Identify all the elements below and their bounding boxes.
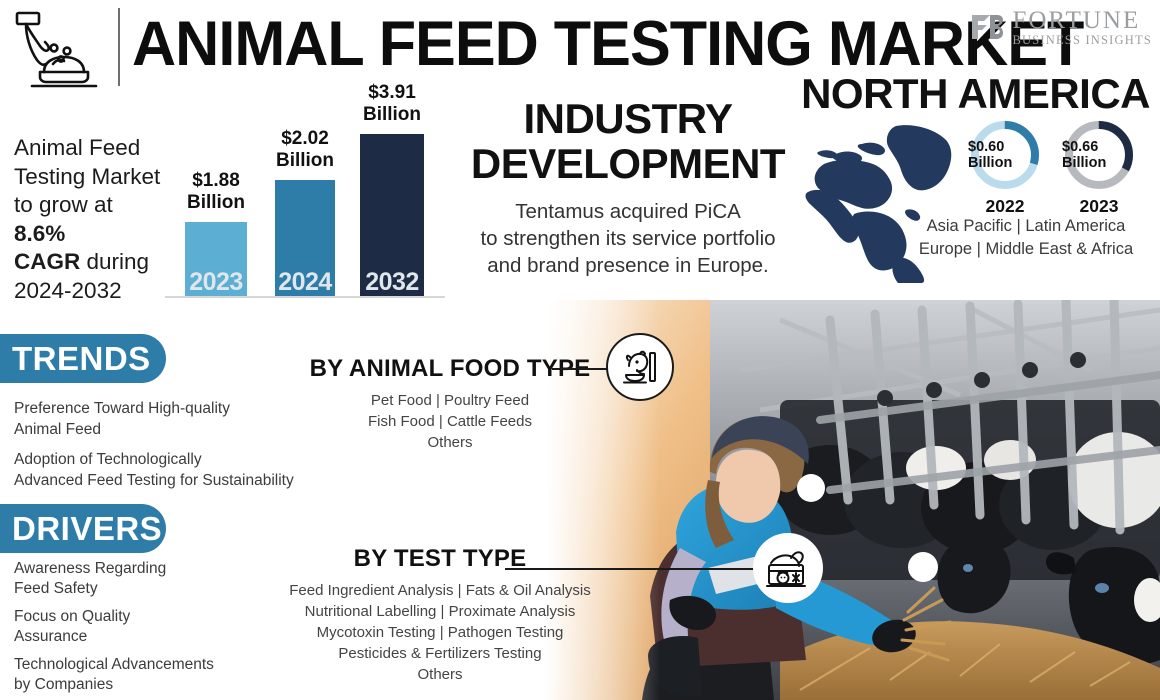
cow-eating-bowl-icon (606, 333, 674, 401)
trends-label: TRENDS (12, 340, 151, 378)
infographic-page: ANIMAL FEED TESTING MARKET FORTUNE BUSIN… (0, 0, 1160, 700)
trend-item-2: Adoption of Technologically Advanced Fee… (14, 449, 314, 491)
bar-year-2023: 2023 (185, 268, 247, 297)
trends-list: Preference Toward High-quality Animal Fe… (14, 398, 314, 500)
connector-line-test-type (505, 568, 765, 570)
segment-items-test-type: Feed Ingredient Analysis | Fats & Oil An… (240, 580, 640, 685)
fortune-business-insights-logo: FORTUNE BUSINESS INSIGHTS (970, 8, 1152, 47)
trends-badge: TRENDS (0, 334, 166, 383)
bar-value-2023: $1.88 Billion (169, 170, 263, 213)
during-text: during (80, 249, 149, 274)
bar-2024: $2.02 Billion 2024 (275, 180, 335, 296)
drivers-badge: DRIVERS (0, 504, 166, 553)
regions-list: Asia Pacific | Latin America Europe | Mi… (900, 215, 1152, 261)
cagr-label: CAGR (14, 249, 80, 274)
donut-2023: $0.66 Billion (1062, 118, 1136, 192)
bar-2023: $1.88 Billion 2023 (185, 222, 247, 296)
donut-2023-value: $0.66 Billion (1062, 118, 1136, 192)
drivers-label: DRIVERS (12, 510, 162, 548)
bar-value-2024: $2.02 Billion (259, 128, 351, 171)
photo-accent-dot-2 (908, 552, 938, 582)
industry-development-block: INDUSTRY DEVELOPMENT Tentamus acquired P… (452, 96, 804, 279)
market-growth-statement: Animal Feed Testing Market to grow at 8.… (14, 134, 169, 305)
header-divider (118, 8, 120, 86)
north-america-title: NORTH AMERICA (801, 70, 1150, 118)
segment-items-animal-food-type: Pet Food | Poultry Feed Fish Food | Catt… (300, 390, 600, 453)
bar-value-2032: $3.91 Billion (344, 82, 440, 125)
bar-year-2024: 2024 (275, 268, 335, 297)
bar-2032: $3.91 Billion 2032 (360, 134, 424, 296)
segment-by-test-type: BY TEST TYPE Feed Ingredient Analysis | … (240, 545, 640, 685)
donut-2022-value: $0.60 Billion (968, 118, 1042, 192)
market-size-bar-chart: $1.88 Billion 2023 $2.02 Billion 2024 $3… (160, 108, 450, 304)
connector-line-animal-food-type (552, 368, 610, 370)
hand-feeding-bowl-icon (12, 6, 108, 94)
industry-development-body: Tentamus acquired PiCA to strengthen its… (452, 198, 804, 279)
feed-sack-scoop-icon (753, 533, 823, 603)
donut-2022-year: 2022 (968, 196, 1042, 217)
donut-2023-year: 2023 (1062, 196, 1136, 217)
brand-name: FORTUNE (1012, 8, 1152, 33)
donut-2022: $0.60 Billion (968, 118, 1042, 192)
fb-monogram-icon (970, 12, 1004, 42)
brand-subtitle: BUSINESS INSIGHTS (1012, 34, 1152, 47)
forecast-period: 2024-2032 (14, 278, 122, 303)
bar-year-2032: 2032 (360, 268, 424, 297)
cagr-value: 8.6% (14, 221, 65, 246)
lead-line-3: to grow at (14, 192, 113, 217)
industry-development-heading: INDUSTRY DEVELOPMENT (452, 96, 804, 186)
lead-line-1: Animal Feed (14, 135, 140, 160)
photo-accent-dot-1 (797, 474, 825, 502)
trend-item-1: Preference Toward High-quality Animal Fe… (14, 398, 314, 440)
lead-line-2: Testing Market (14, 164, 160, 189)
